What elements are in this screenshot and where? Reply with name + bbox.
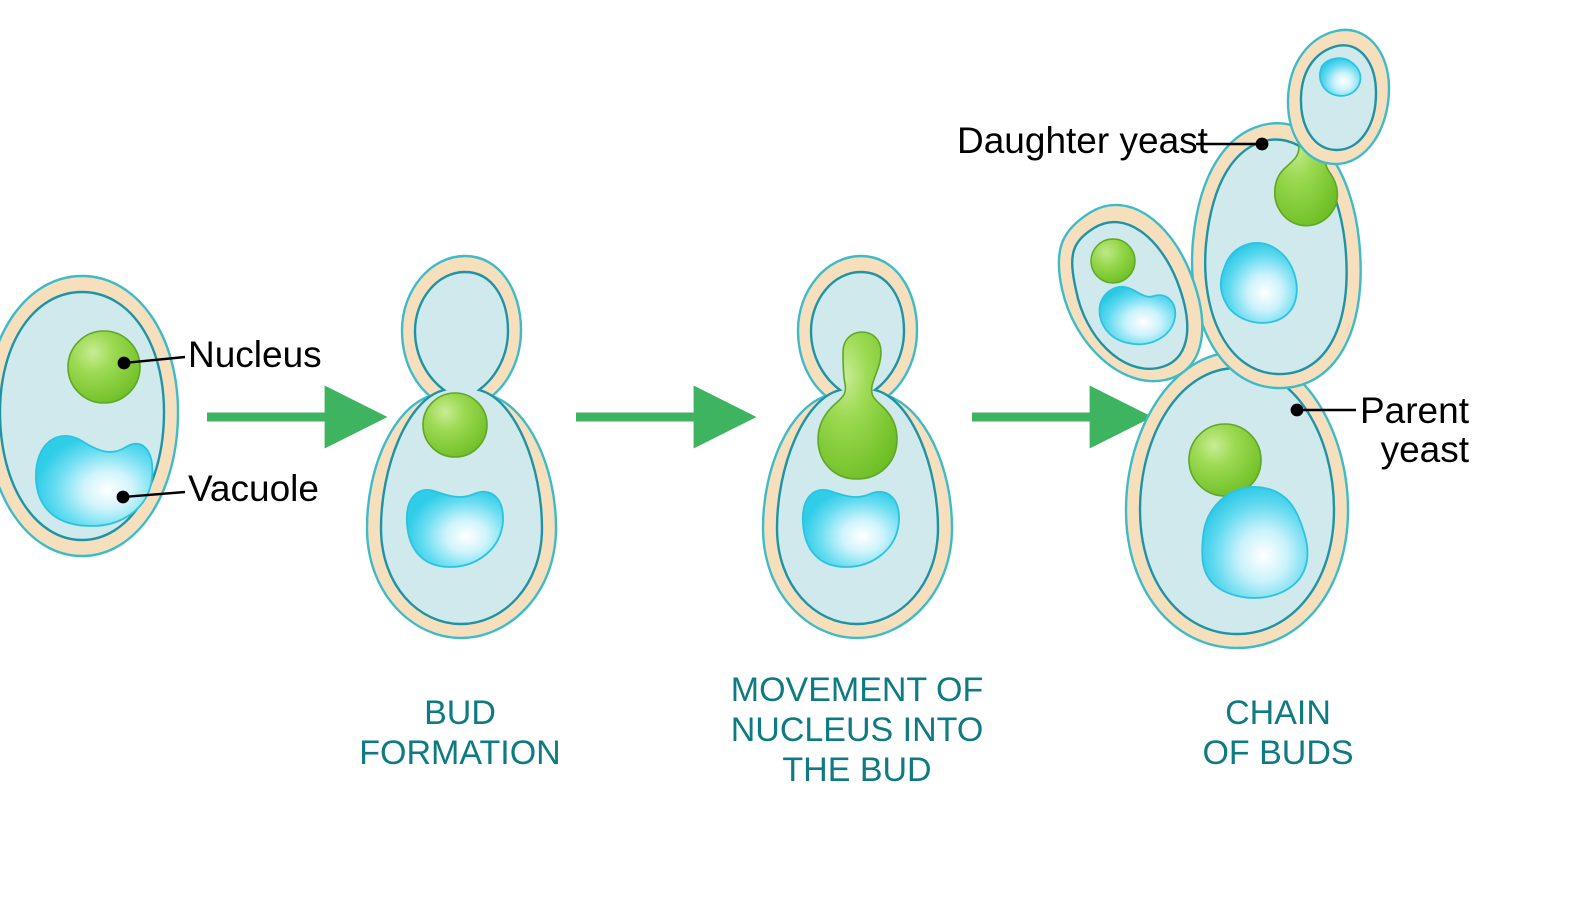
- caption-bud-formation: BUD FORMATION: [310, 693, 610, 773]
- vacuole: [1100, 287, 1176, 344]
- label-nucleus: Nucleus: [188, 336, 322, 375]
- parent-yeast: [1126, 352, 1356, 648]
- nucleus: [1189, 424, 1261, 496]
- label-vacuole: Vacuole: [188, 470, 319, 509]
- stage-2-bud-formation: [367, 256, 556, 638]
- nucleus: [68, 331, 140, 403]
- nucleus: [1091, 239, 1135, 283]
- daughter-bud-top: [1288, 30, 1389, 164]
- caption-chain-of-buds: CHAIN OF BUDS: [1128, 693, 1428, 773]
- stage-3-nucleus-movement: [763, 256, 952, 638]
- caption-nucleus-movement: MOVEMENT OF NUCLEUS INTO THE BUD: [683, 670, 1031, 790]
- daughter-bud-left: [1059, 205, 1202, 381]
- label-parent-yeast: Parent yeast: [1359, 392, 1469, 470]
- nucleus: [423, 393, 487, 457]
- label-daughter-yeast: Daughter yeast: [957, 122, 1208, 161]
- stage-1-single-cell: [0, 276, 185, 556]
- vacuole: [1202, 487, 1307, 598]
- vacuole: [1320, 58, 1361, 96]
